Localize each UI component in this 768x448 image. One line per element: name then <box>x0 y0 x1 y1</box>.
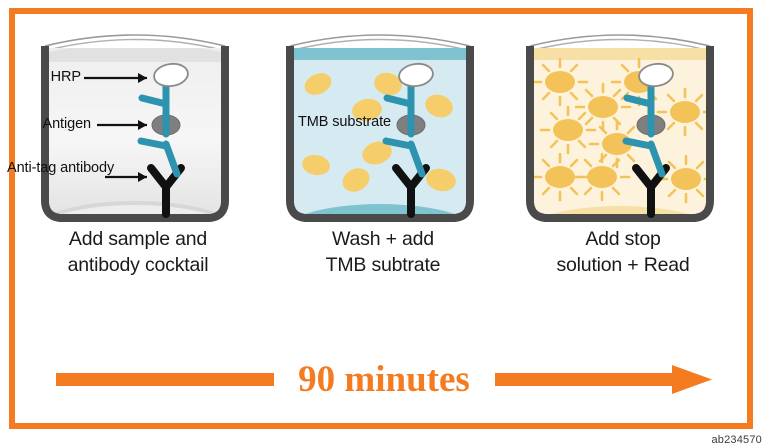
microplate-well-2: TMB substrate <box>280 22 485 222</box>
workflow-step-1: HRP Antigen Anti-tag antibody Add sample… <box>35 22 250 332</box>
microplate-well-3 <box>520 22 725 222</box>
step-1-caption: Add sample and antibody cocktail <box>29 227 247 278</box>
step-3-caption: Add stop solution + Read <box>514 227 732 278</box>
label-tmb-substrate: TMB substrate <box>298 114 390 131</box>
label-anti-tag-antibody: Anti-tag antibody <box>7 160 99 177</box>
timeline-duration-label: 90 minutes <box>0 358 768 401</box>
diagram-canvas: HRP Antigen Anti-tag antibody Add sample… <box>0 0 768 448</box>
well-3-graphic <box>520 22 725 222</box>
workflow-step-3: Add stop solution + Read <box>520 22 735 332</box>
watermark-code: ab234570 <box>711 434 762 446</box>
step-2-caption: Wash + add TMB subtrate <box>274 227 492 278</box>
tmb-liquid <box>280 44 480 222</box>
label-antigen: Antigen <box>7 116 91 133</box>
stop-solution-liquid <box>520 44 720 222</box>
microplate-well-1: HRP Antigen Anti-tag antibody <box>35 22 240 222</box>
workflow-step-2: TMB substrate Wash + add TMB subtrate <box>280 22 495 332</box>
workflow-steps-row: HRP Antigen Anti-tag antibody Add sample… <box>0 0 768 250</box>
label-hrp: HRP <box>25 69 81 86</box>
